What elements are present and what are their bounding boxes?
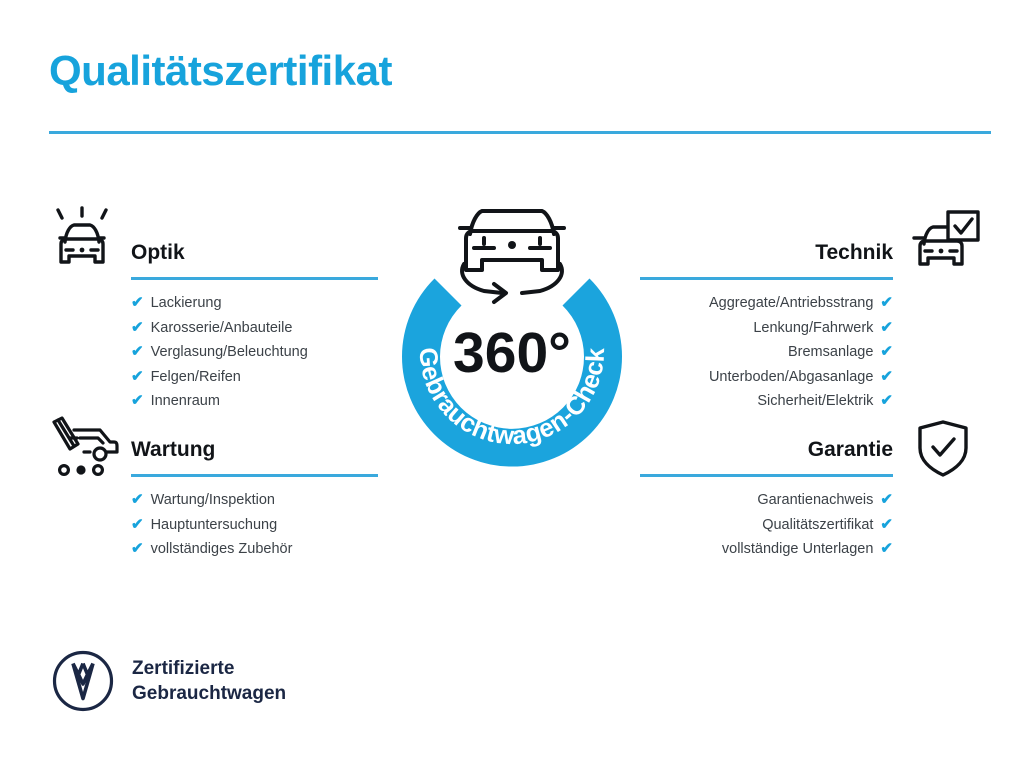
footer-line-2: Gebrauchtwagen [132,681,286,706]
list-item-label: Lenkung/Fahrwerk [753,317,873,341]
360-check-badge: Gebrauchtwagen-Check 360° [372,192,652,486]
optik-header: Optik [131,238,378,280]
technik-list: Aggregate/Antriebsstrang✔ Lenkung/Fahrwe… [640,291,893,414]
list-item: Lenkung/Fahrwerk✔ [640,316,893,341]
list-item: ✔Karosserie/Anbauteile [131,316,378,341]
certificate-page: Qualitätszertifikat Optik ✔Lackierung ✔K… [0,0,1024,768]
section-garantie: Garantie Garantienachweis✔ Qualitätszert… [640,435,893,562]
list-item: Unterboden/Abgasanlage✔ [640,365,893,390]
check-icon: ✔ [131,488,144,512]
wartung-list: ✔Wartung/Inspektion ✔Hauptuntersuchung ✔… [131,488,378,562]
garantie-header: Garantie [640,435,893,477]
footer-brand-lockup: Zertifizierte Gebrauchtwagen [52,650,286,712]
optik-divider [131,277,378,280]
check-icon: ✔ [880,365,893,389]
check-icon: ✔ [131,340,144,364]
list-item: ✔Lackierung [131,291,378,316]
technik-title: Technik [640,238,893,268]
list-item-label: Felgen/Reifen [151,366,241,390]
list-item: Qualitätszertifikat✔ [640,513,893,538]
car-front-shine-icon [46,206,118,276]
technik-header: Technik [640,238,893,280]
garantie-icon-wrap [911,416,975,485]
check-icon: ✔ [880,340,893,364]
wartung-icon-wrap [44,416,120,483]
check-icon: ✔ [880,488,893,512]
list-item-label: vollständige Unterlagen [722,538,874,562]
list-item-label: Innenraum [151,390,220,414]
check-icon: ✔ [880,316,893,340]
garantie-divider [640,474,893,477]
check-icon: ✔ [880,291,893,315]
footer-line-1: Zertifizierte [132,656,286,681]
list-item-label: Aggregate/Antriebsstrang [709,292,873,316]
car-service-pen-icon [44,416,120,478]
check-icon: ✔ [131,291,144,315]
list-item-label: Wartung/Inspektion [151,489,275,513]
car-rotate-360-icon [460,211,564,302]
car-front-checkbox-icon [906,208,982,276]
list-item-label: Lackierung [151,292,222,316]
list-item: Aggregate/Antriebsstrang✔ [640,291,893,316]
list-item-label: Unterboden/Abgasanlage [709,366,873,390]
volkswagen-logo-icon [52,650,114,712]
garantie-title: Garantie [640,435,893,465]
list-item-label: vollständiges Zubehör [151,538,293,562]
list-item: ✔Innenraum [131,389,378,414]
optik-title: Optik [131,238,378,268]
list-item: ✔Hauptuntersuchung [131,513,378,538]
list-item: vollständige Unterlagen✔ [640,537,893,562]
optik-list: ✔Lackierung ✔Karosserie/Anbauteile ✔Verg… [131,291,378,414]
page-title: Qualitätszertifikat [49,50,392,92]
360-badge-graphic: Gebrauchtwagen-Check 360° [372,192,652,486]
list-item: ✔vollständiges Zubehör [131,537,378,562]
technik-divider [640,277,893,280]
section-wartung: Wartung ✔Wartung/Inspektion ✔Hauptunters… [131,435,378,562]
list-item-label: Qualitätszertifikat [762,514,873,538]
list-item: ✔Verglasung/Beleuchtung [131,340,378,365]
list-item: Bremsanlage✔ [640,340,893,365]
list-item-label: Sicherheit/Elektrik [757,390,873,414]
garantie-list: Garantienachweis✔ Qualitätszertifikat✔ v… [640,488,893,562]
check-icon: ✔ [131,537,144,561]
footer-brand-text: Zertifizierte Gebrauchtwagen [132,656,286,706]
list-item-label: Karosserie/Anbauteile [151,317,293,341]
wartung-title: Wartung [131,435,378,465]
badge-center-label: 360° [453,321,571,385]
optik-icon-wrap [46,206,118,281]
list-item-label: Hauptuntersuchung [151,514,278,538]
title-divider [49,131,991,134]
check-icon: ✔ [880,389,893,413]
list-item: Garantienachweis✔ [640,488,893,513]
list-item: ✔Felgen/Reifen [131,365,378,390]
wartung-header: Wartung [131,435,378,477]
list-item: Sicherheit/Elektrik✔ [640,389,893,414]
check-icon: ✔ [131,513,144,537]
list-item-label: Verglasung/Beleuchtung [151,341,308,365]
check-icon: ✔ [880,537,893,561]
check-icon: ✔ [880,513,893,537]
shield-check-icon [911,416,975,480]
technik-icon-wrap [906,208,982,281]
section-optik: Optik ✔Lackierung ✔Karosserie/Anbauteile… [131,238,378,414]
wartung-divider [131,474,378,477]
check-icon: ✔ [131,365,144,389]
list-item-label: Bremsanlage [788,341,873,365]
check-icon: ✔ [131,389,144,413]
check-icon: ✔ [131,316,144,340]
list-item: ✔Wartung/Inspektion [131,488,378,513]
section-technik: Technik Aggregate/Antriebsstrang✔ Lenkun… [640,238,893,414]
list-item-label: Garantienachweis [757,489,873,513]
